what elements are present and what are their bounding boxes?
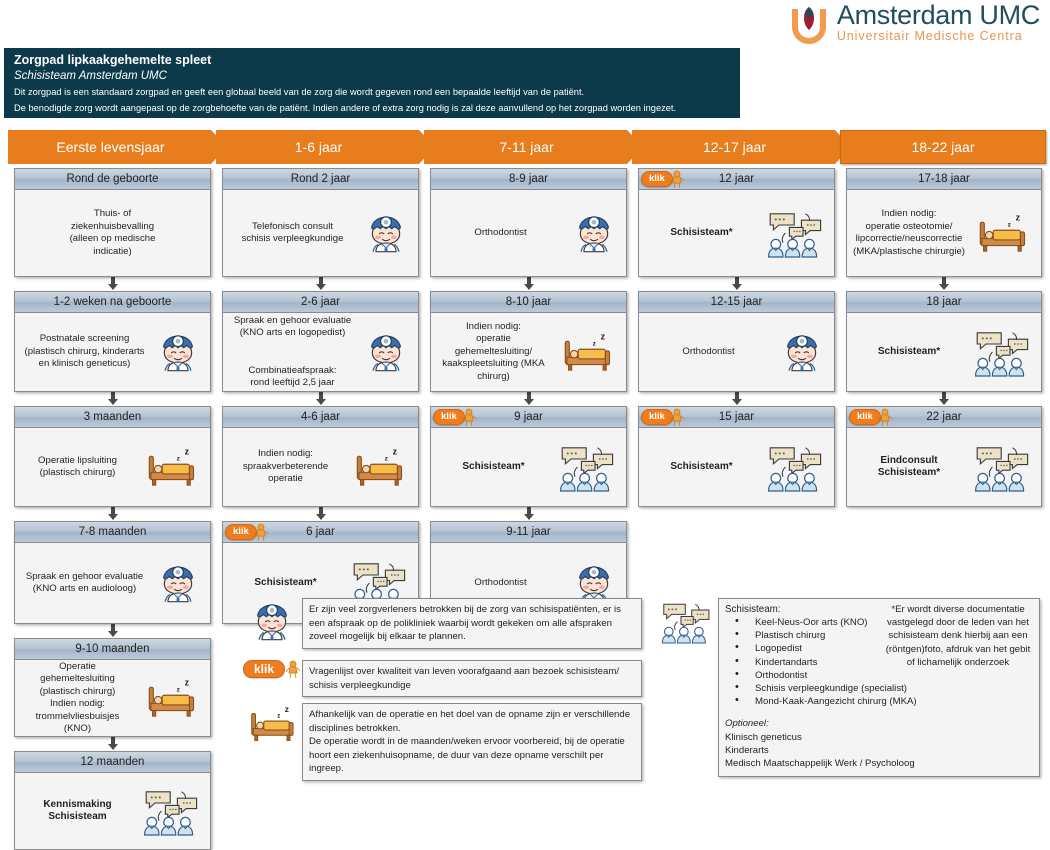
pathway-card: 9-10 maandenOperatie gehemeltesluiting(p… — [14, 638, 211, 737]
team-chat-icon — [660, 600, 712, 643]
card-title: 4-6 jaar — [301, 411, 340, 423]
team-chat-icon — [973, 443, 1031, 491]
card-body: Schisisteam* — [847, 313, 1041, 391]
card-header: 1-2 weken na geboorte — [15, 292, 210, 313]
pathway-card: 17-18 jaarIndien nodig:operatie osteotom… — [846, 168, 1042, 277]
card-title: 12 jaar — [719, 173, 754, 185]
card-header: 4-6 jaar — [223, 407, 418, 428]
pathway-card: 4-6 jaarIndien nodig:spraakverbeterendeo… — [222, 406, 419, 507]
logo-subtitle: Universitair Medische Centra — [837, 30, 1040, 43]
svg-text:z: z — [593, 340, 596, 347]
pathway-card: 2-6 jaarSpraak en gehoor evaluatie(KNO a… — [222, 291, 419, 392]
flow-arrow-icon — [430, 392, 627, 406]
flow-arrow-icon — [14, 277, 211, 291]
intro-banner: Zorgpad lipkaakgehemelte spleet Schisist… — [4, 48, 740, 118]
team-chat-icon-legend — [660, 598, 718, 648]
card-body: Thuis- ofziekenhuisbevalling(alleen op m… — [15, 190, 210, 276]
team-chat-icon — [973, 328, 1031, 376]
card-title: 7-8 maanden — [79, 526, 147, 538]
card-title: 6 jaar — [306, 526, 335, 538]
pathway-card[interactable]: klik 12 jaarSchisisteam* — [638, 168, 835, 277]
card-description: Schisisteam* — [227, 577, 344, 590]
card-description: Orthodontist — [435, 227, 566, 240]
phase-header-label: 18-22 jaar — [911, 139, 974, 155]
card-header: 9-10 maanden — [15, 639, 210, 660]
card-title: 8-9 jaar — [509, 173, 548, 185]
team-chat-icon-slot — [760, 209, 830, 257]
optional-member-list: Klinisch geneticusKinderartsMedisch Maat… — [725, 731, 1033, 771]
pathway-card[interactable]: klik 9 jaarSchisisteam* — [430, 406, 627, 507]
team-chat-icon — [766, 443, 824, 491]
pathway-column-5: 17-18 jaarIndien nodig:operatie osteotom… — [846, 168, 1042, 507]
flow-arrow-icon — [430, 507, 627, 521]
team-chat-icon-slot — [760, 443, 830, 491]
pathway-card: 3 maandenOperatie lipsluiting(plastisch … — [14, 406, 211, 507]
klik-figure-icon — [285, 660, 301, 678]
flow-arrow-icon — [14, 737, 211, 751]
hospital-bed-icon-slot: z z — [967, 211, 1037, 256]
klik-figure-icon — [669, 170, 685, 188]
card-header: klik 9 jaar — [431, 407, 626, 428]
team-member-item: Mond-Kaak-Aangezicht chirurg (MKA) — [729, 695, 1033, 708]
card-description: Orthodontist — [643, 346, 774, 359]
doctor-icon-slot — [150, 560, 206, 606]
klik-badge[interactable]: klik — [433, 408, 477, 425]
svg-text:z: z — [277, 713, 280, 719]
team-member-item: Orthodontist — [729, 669, 1033, 682]
klik-badge-icon-slot: klik — [242, 660, 302, 678]
phase-header-1[interactable]: Eerste levensjaar — [8, 130, 227, 164]
card-description: Indien nodig:operatie osteotomie/lipcorr… — [851, 208, 967, 258]
svg-text:z: z — [185, 446, 190, 456]
amsterdam-umc-logo: Amsterdam UMC Universitair Medische Cent… — [789, 2, 1040, 45]
card-header: 9-11 jaar — [431, 522, 626, 543]
klik-badge[interactable]: klik — [243, 660, 301, 678]
card-title: 17-18 jaar — [918, 173, 970, 185]
flow-arrow-icon — [14, 392, 211, 406]
team-chat-icon — [766, 209, 824, 257]
klik-badge[interactable]: klik — [225, 523, 269, 540]
doctor-icon-slot — [150, 329, 206, 375]
card-body: Schisisteam* — [639, 428, 834, 506]
doctor-icon-slot — [358, 210, 414, 256]
card-header: 2-6 jaar — [223, 292, 418, 313]
card-body: Orthodontist — [639, 313, 834, 391]
card-title: Rond 2 jaar — [291, 173, 350, 185]
team-chat-icon-slot — [967, 443, 1037, 491]
phase-header-label: 7-11 jaar — [499, 139, 553, 155]
svg-text:z: z — [385, 455, 388, 462]
flow-arrow-icon — [430, 277, 627, 291]
card-title: 9 jaar — [514, 411, 543, 423]
card-description: Thuis- ofziekenhuisbevalling(alleen op m… — [19, 208, 206, 258]
doctor-icon — [249, 598, 295, 644]
svg-text:z: z — [185, 677, 190, 687]
card-header: 7-8 maanden — [15, 522, 210, 543]
pathway-subtitle: Schisisteam Amsterdam UMC — [14, 68, 732, 84]
tulip-logo-icon — [789, 3, 829, 43]
card-description: Schisisteam* — [435, 461, 552, 474]
card-description: Telefonisch consultschisis verpleegkundi… — [227, 221, 358, 246]
card-body: Spraak en gehoor evaluatie(KNO arts en l… — [223, 313, 418, 391]
hospital-bed-icon-slot: z z — [136, 676, 206, 721]
pathway-column-2: Rond 2 jaarTelefonisch consultschisis ve… — [222, 168, 419, 624]
doctor-icon-slot — [566, 210, 622, 256]
card-body: Orthodontist — [431, 190, 626, 276]
card-body: Schisisteam* — [639, 190, 834, 276]
flow-arrow-icon — [222, 507, 419, 521]
flow-arrow-icon — [846, 392, 1042, 406]
card-header: klik 15 jaar — [639, 407, 834, 428]
klik-figure-icon — [669, 408, 685, 426]
card-body: Operatie lipsluiting(plastisch chirurg) … — [15, 428, 210, 506]
phase-header-label: Eerste levensjaar — [56, 139, 164, 155]
pathway-column-4: klik 12 jaarSchisisteam* — [638, 168, 835, 507]
klik-figure-icon — [877, 408, 893, 426]
team-chat-icon-slot — [552, 443, 622, 491]
pathway-title: Zorgpad lipkaakgehemelte spleet — [14, 53, 732, 68]
card-body: Spraak en gehoor evaluatie(KNO arts en a… — [15, 543, 210, 623]
card-title: 9-11 jaar — [506, 526, 551, 538]
phase-header-3[interactable]: 7-11 jaar — [424, 130, 643, 164]
svg-text:z: z — [1008, 221, 1011, 228]
card-description: Spraak en gehoor evaluatie(KNO arts en a… — [19, 571, 150, 596]
card-description: EindconsultSchisisteam* — [851, 455, 967, 480]
pathway-card: 7-8 maandenSpraak en gehoor evaluatie(KN… — [14, 521, 211, 624]
card-body: Postnatale screening(plastisch chirurg, … — [15, 313, 210, 391]
card-body: EindconsultSchisisteam* — [847, 428, 1041, 506]
hospital-bed-icon: z z — [245, 703, 299, 745]
flow-arrow-icon — [638, 277, 835, 291]
flow-arrow-icon — [14, 624, 211, 638]
card-title: 12 maanden — [81, 756, 145, 768]
klik-badge-label: klik — [243, 660, 285, 678]
team-member-item: Schisis verpleegkundige (specialist) — [729, 682, 1033, 695]
card-body: Indien nodig:operatie osteotomie/lipcorr… — [847, 190, 1041, 276]
pathway-card: 12-15 jaarOrthodontist — [638, 291, 835, 392]
doctor-icon-slot — [358, 329, 414, 375]
card-description: Schisisteam* — [643, 227, 760, 240]
intro-line-2: De benodigde zorg wordt aangepast op de … — [14, 100, 732, 116]
pathway-card[interactable]: klik 15 jaarSchisisteam* — [638, 406, 835, 507]
flow-arrow-icon — [222, 277, 419, 291]
phase-header-4[interactable]: 12-17 jaar — [632, 130, 851, 164]
hospital-bed-icon-slot: z z — [242, 703, 302, 745]
doctor-icon — [779, 329, 825, 375]
team-member-item: Kindertandarts — [729, 656, 1033, 669]
pathway-card: 1-2 weken na geboortePostnatale screenin… — [14, 291, 211, 392]
card-title: 18 jaar — [926, 296, 961, 308]
legend-note: klik Vragenlijst over kwaliteit van leve… — [242, 660, 642, 697]
card-title: 1-2 weken na geboorte — [54, 296, 172, 308]
team-member-item: Plastisch chirurg — [729, 629, 1033, 642]
optional-label: Optioneel: — [725, 717, 1033, 730]
phase-header-row: Eerste levensjaar1-6 jaar7-11 jaar12-17 … — [0, 130, 1050, 168]
team-member-item: Keel-Neus-Oor arts (KNO) — [729, 616, 1033, 629]
pathway-card: Rond 2 jaarTelefonisch consultschisis ve… — [222, 168, 419, 277]
doctor-icon — [155, 560, 201, 606]
team-member-item: Logopedist — [729, 642, 1033, 655]
hospital-bed-icon-slot: z z — [552, 330, 622, 375]
card-description: Postnatale screening(plastisch chirurg, … — [19, 333, 150, 371]
svg-text:z: z — [393, 446, 398, 456]
card-title: 3 maanden — [84, 411, 142, 423]
card-header: klik 12 jaar — [639, 169, 834, 190]
card-title: 22 jaar — [926, 411, 961, 423]
doctor-icon — [571, 210, 617, 256]
card-body: KennismakingSchisisteam — [15, 773, 210, 849]
optional-member-item: Kinderarts — [725, 744, 1033, 757]
intro-line-1: Dit zorgpad is een standaard zorgpad en … — [14, 84, 732, 100]
team-chat-icon-slot — [136, 787, 206, 835]
card-title: 8-10 jaar — [506, 296, 551, 308]
card-description: Spraak en gehoor evaluatie(KNO arts en l… — [227, 315, 358, 390]
doctor-icon — [155, 329, 201, 375]
doctor-icon-slot — [242, 598, 302, 644]
card-body: Indien nodig:spraakverbeterendeoperatie … — [223, 428, 418, 506]
doctor-icon — [363, 329, 409, 375]
card-header: Rond de geboorte — [15, 169, 210, 190]
svg-text:z: z — [177, 455, 180, 462]
hospital-bed-icon: z z — [142, 445, 200, 490]
svg-text:z: z — [601, 331, 606, 341]
schisisteam-legend: *Er wordt diverse documentatie vastgeleg… — [660, 598, 1040, 777]
card-header: 17-18 jaar — [847, 169, 1041, 190]
flow-arrow-icon — [638, 392, 835, 406]
card-header: 18 jaar — [847, 292, 1041, 313]
team-member-list: Keel-Neus-Oor arts (KNO)Plastisch chirur… — [725, 616, 1033, 708]
card-description: Indien nodig:spraakverbeterendeoperatie — [227, 448, 344, 486]
team-chat-icon — [558, 443, 616, 491]
optional-member-item: Medisch Maatschappelijk Werk / Psycholoo… — [725, 757, 1033, 770]
card-title: 2-6 jaar — [301, 296, 340, 308]
card-header: 3 maanden — [15, 407, 210, 428]
klik-badge[interactable]: klik — [849, 408, 893, 425]
klik-badge[interactable]: klik — [641, 170, 685, 187]
svg-text:z: z — [1016, 212, 1021, 222]
card-description: Schisisteam* — [643, 461, 760, 474]
pathway-card: 18 jaarSchisisteam* — [846, 291, 1042, 392]
klik-figure-icon — [461, 408, 477, 426]
card-description: Indien nodig:operatie gehemeltesluiting/… — [435, 321, 552, 384]
card-header: klik 6 jaar — [223, 522, 418, 543]
card-body: Schisisteam* — [431, 428, 626, 506]
card-header: 12 maanden — [15, 752, 210, 773]
card-title: 15 jaar — [719, 411, 754, 423]
flow-arrow-icon — [846, 277, 1042, 291]
doctor-icon-slot — [774, 329, 830, 375]
pathway-card: 12 maandenKennismakingSchisisteam — [14, 751, 211, 850]
hospital-bed-icon: z z — [558, 330, 616, 375]
card-header: klik 22 jaar — [847, 407, 1041, 428]
doctor-icon — [363, 210, 409, 256]
card-description: Orthodontist — [435, 577, 566, 590]
hospital-bed-icon: z z — [973, 211, 1031, 256]
pathway-column-3: 8-9 jaarOrthodontist 8-10 jaarIndien nod… — [430, 168, 627, 624]
card-title: Rond de geboorte — [66, 173, 158, 185]
hospital-bed-icon: z z — [350, 445, 408, 490]
svg-text:z: z — [285, 705, 289, 714]
klik-figure-icon — [253, 523, 269, 541]
logo-title: Amsterdam UMC — [837, 2, 1040, 29]
pathway-card[interactable]: klik 22 jaarEindconsultSchisisteam* — [846, 406, 1042, 507]
optional-member-item: Klinisch geneticus — [725, 731, 1033, 744]
klik-badge[interactable]: klik — [641, 408, 685, 425]
hospital-bed-icon-slot: z z — [136, 445, 206, 490]
card-description: Operatie gehemeltesluiting(plastisch chi… — [19, 661, 136, 736]
svg-text:z: z — [177, 686, 180, 693]
hospital-bed-icon: z z — [142, 676, 200, 721]
legend-note-text: Afhankelijk van de operatie en het doel … — [302, 703, 642, 781]
phase-header-label: 1-6 jaar — [295, 139, 342, 155]
flow-arrow-icon — [14, 507, 211, 521]
card-description: Operatie lipsluiting(plastisch chirurg) — [19, 455, 136, 480]
legend-note-text: Er zijn veel zorgverleners betrokken bij… — [302, 598, 642, 649]
card-title: 12-15 jaar — [711, 296, 763, 308]
pathway-card: 8-10 jaarIndien nodig:operatie gehemelte… — [430, 291, 627, 392]
card-body: Operatie gehemeltesluiting(plastisch chi… — [15, 660, 210, 736]
card-description: KennismakingSchisisteam — [19, 799, 136, 824]
phase-header-label: 12-17 jaar — [703, 139, 766, 155]
hospital-bed-icon-slot: z z — [344, 445, 414, 490]
team-chat-icon-slot — [967, 328, 1037, 376]
flow-arrow-icon — [222, 392, 419, 406]
legend-note-text: Vragenlijst over kwaliteit van leven voo… — [302, 660, 642, 697]
pathway-column-1: Rond de geboorteThuis- ofziekenhuisbeval… — [14, 168, 211, 850]
pathway-card: 8-9 jaarOrthodontist — [430, 168, 627, 277]
legend-note: Er zijn veel zorgverleners betrokken bij… — [242, 598, 642, 649]
legend-note: z z Afhankelijk van de operatie en het d… — [242, 703, 642, 781]
team-chat-icon — [142, 787, 200, 835]
pathway-card: Rond de geboorteThuis- ofziekenhuisbeval… — [14, 168, 211, 277]
card-header: Rond 2 jaar — [223, 169, 418, 190]
card-title: 9-10 maanden — [75, 643, 149, 655]
card-description: Schisisteam* — [851, 346, 967, 359]
card-header: 8-10 jaar — [431, 292, 626, 313]
phase-header-5[interactable]: 18-22 jaar — [840, 130, 1046, 164]
phase-header-2[interactable]: 1-6 jaar — [216, 130, 435, 164]
card-header: 8-9 jaar — [431, 169, 626, 190]
card-body: Telefonisch consultschisis verpleegkundi… — [223, 190, 418, 276]
card-body: Indien nodig:operatie gehemeltesluiting/… — [431, 313, 626, 391]
card-header: 12-15 jaar — [639, 292, 834, 313]
